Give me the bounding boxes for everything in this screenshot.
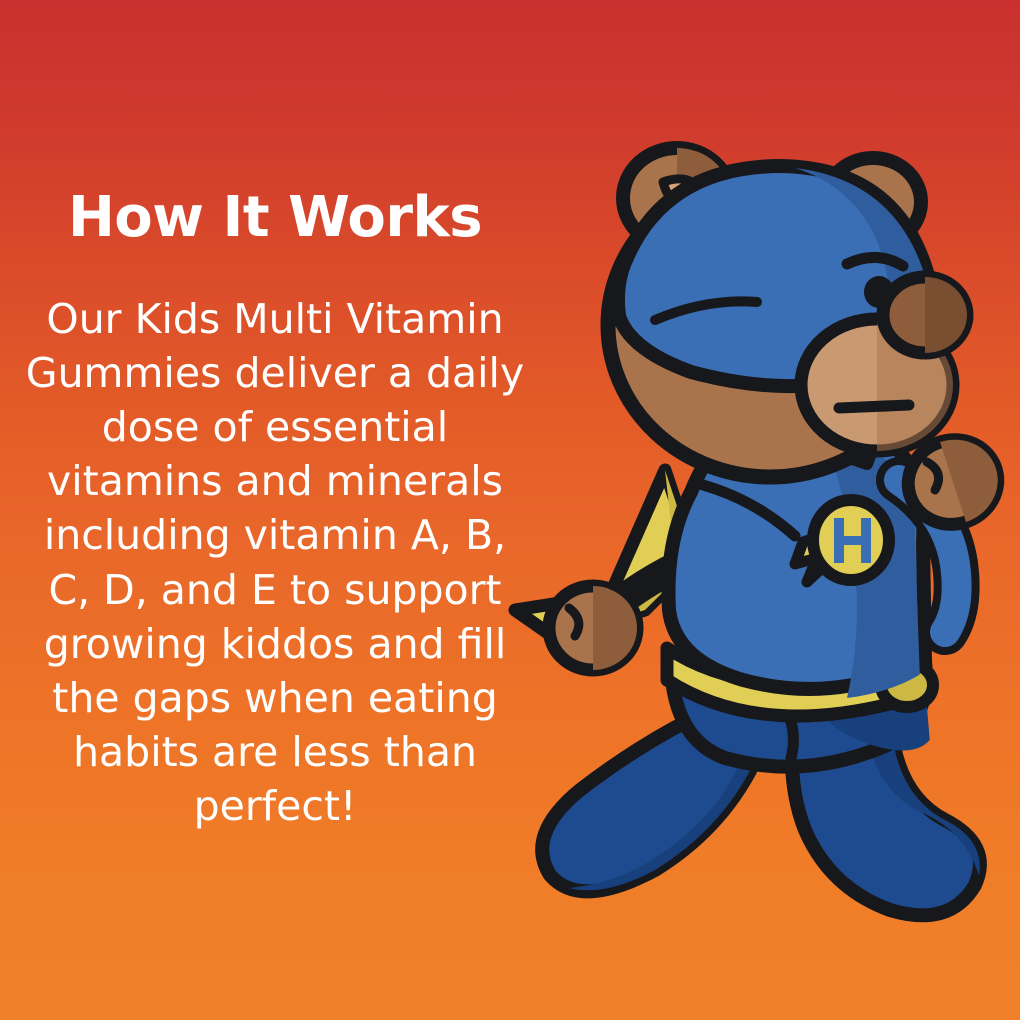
body-copy: Our Kids Multi Vitamin Gummies deliver a… — [20, 292, 530, 833]
page-title: How It Works — [20, 190, 530, 246]
superhero-bear-illustration — [495, 140, 1020, 930]
promo-card: How It Works Our Kids Multi Vitamin Gumm… — [0, 0, 1020, 1020]
bear-mascot-svg — [495, 140, 1020, 930]
text-panel: How It Works Our Kids Multi Vitamin Gumm… — [20, 190, 530, 833]
bear-head — [608, 148, 967, 485]
